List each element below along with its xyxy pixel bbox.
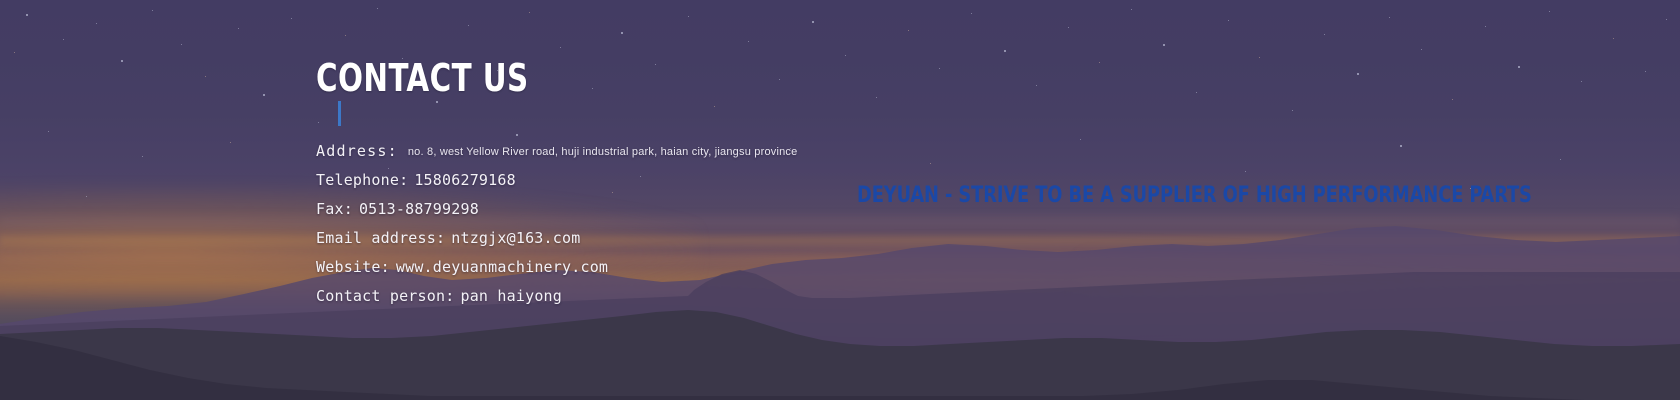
- contact-details-list: Address: no. 8, west Yellow River road, …: [316, 142, 936, 316]
- contact-row-website: Website: www.deyuanmachinery.com: [316, 258, 936, 287]
- contact-row-address: Address: no. 8, west Yellow River road, …: [316, 142, 936, 171]
- title-accent-bar: [338, 101, 341, 126]
- email-label: Email address:: [316, 229, 445, 247]
- banner-content: CONTACT US Address: no. 8, west Yellow R…: [0, 0, 1680, 400]
- contact-person-value: pan haiyong: [460, 287, 562, 305]
- contact-row-fax: Fax: 0513-88799298: [316, 200, 936, 229]
- website-label: Website:: [316, 258, 390, 276]
- telephone-value[interactable]: 15806279168: [414, 171, 516, 189]
- fax-value: 0513-88799298: [359, 200, 479, 218]
- contact-row-person: Contact person: pan haiyong: [316, 287, 936, 316]
- contact-row-email: Email address: ntzgjx@163.com: [316, 229, 936, 258]
- telephone-label: Telephone:: [316, 171, 408, 189]
- contact-banner: CONTACT US Address: no. 8, west Yellow R…: [0, 0, 1680, 400]
- email-value[interactable]: ntzgjx@163.com: [451, 229, 580, 247]
- page-title: CONTACT US: [316, 57, 529, 99]
- address-label: Address:: [316, 142, 398, 160]
- fax-label: Fax:: [316, 200, 353, 218]
- company-tagline: DEYUAN - STRIVE TO BE A SUPPLIER OF HIGH…: [857, 183, 1532, 209]
- address-value: no. 8, west Yellow River road, huji indu…: [408, 146, 798, 158]
- contact-person-label: Contact person:: [316, 287, 454, 305]
- website-value[interactable]: www.deyuanmachinery.com: [396, 258, 608, 276]
- contact-row-telephone: Telephone: 15806279168: [316, 171, 936, 200]
